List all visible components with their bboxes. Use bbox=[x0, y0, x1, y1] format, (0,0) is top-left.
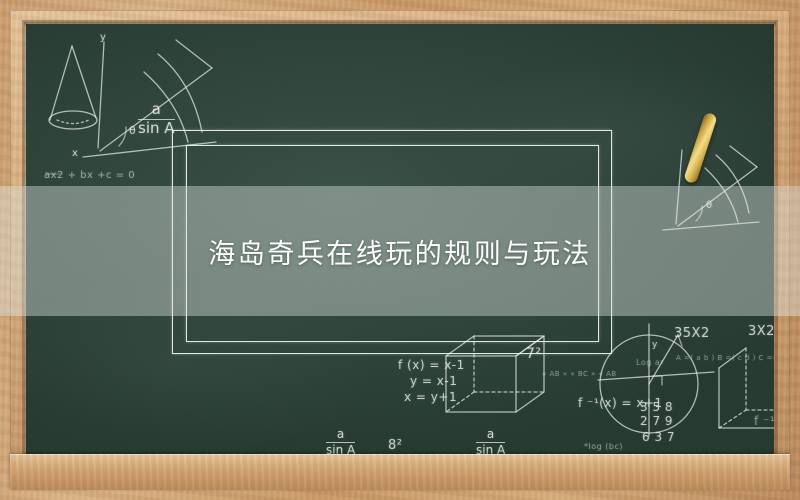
axis-label-x-icon: x bbox=[72, 148, 78, 159]
power-eight-text: 8² bbox=[388, 438, 402, 453]
chalk-fraction-a-sin-a-3: a sin A bbox=[476, 428, 505, 454]
fraction-numerator: a bbox=[138, 102, 175, 120]
angle-label-theta: θ bbox=[129, 124, 136, 137]
arith-row-1-text: 3 5 8 bbox=[640, 400, 673, 414]
fraction-denominator: sin A bbox=[138, 120, 175, 137]
log-ax-text: Log aᵡ bbox=[636, 358, 664, 367]
arith-row-3-text: 6 3 7 bbox=[642, 430, 675, 444]
axis-label-y-icon: y bbox=[100, 32, 106, 43]
inverse-fn-partial-text: f ⁻¹ bbox=[754, 414, 774, 428]
fraction-denominator: sin A bbox=[476, 443, 505, 454]
chalk-stick-on-board bbox=[683, 112, 718, 184]
fn-line-1-text: f (x) = x-1 bbox=[398, 358, 465, 372]
label-3x2-text: 3X2 bbox=[748, 324, 774, 339]
small-expr-ab-bc-text: « AB » « BC » « AB bbox=[542, 370, 617, 378]
fraction-numerator: a bbox=[476, 428, 505, 443]
arith-row-2-text: 2 7 9 bbox=[640, 414, 673, 428]
axis-label-y-2-icon: y bbox=[652, 340, 658, 350]
chalk-fraction-a-sin-a-1: a sin A bbox=[138, 102, 175, 137]
chalk-ledge bbox=[10, 454, 790, 490]
chalk-fraction-a-sin-a-2: a sin A bbox=[326, 428, 355, 454]
ledge-wood-grain bbox=[10, 454, 790, 490]
fn-line-2-text: y = x-1 bbox=[410, 374, 457, 388]
fn-line-3-text: x = y+1 bbox=[404, 390, 457, 404]
fraction-numerator: a bbox=[326, 428, 355, 443]
label-35x2-text: 35X2 bbox=[674, 326, 710, 341]
cone-diagram bbox=[49, 46, 97, 129]
fraction-denominator: sin A bbox=[326, 443, 355, 454]
log-bc-text: *log (bc) bbox=[584, 442, 623, 451]
matrix-row-text: A =( a b ) B =( c d ) C =( e f ) bbox=[676, 354, 774, 362]
chalkboard-banner: a sin A y x θ ax2 + bx +c = 0 f (x) = x-… bbox=[0, 0, 800, 500]
page-title: 海岛奇兵在线玩的规则与玩法 bbox=[0, 186, 800, 316]
quadratic-equation-text: ax2 + bx +c = 0 bbox=[44, 170, 135, 181]
